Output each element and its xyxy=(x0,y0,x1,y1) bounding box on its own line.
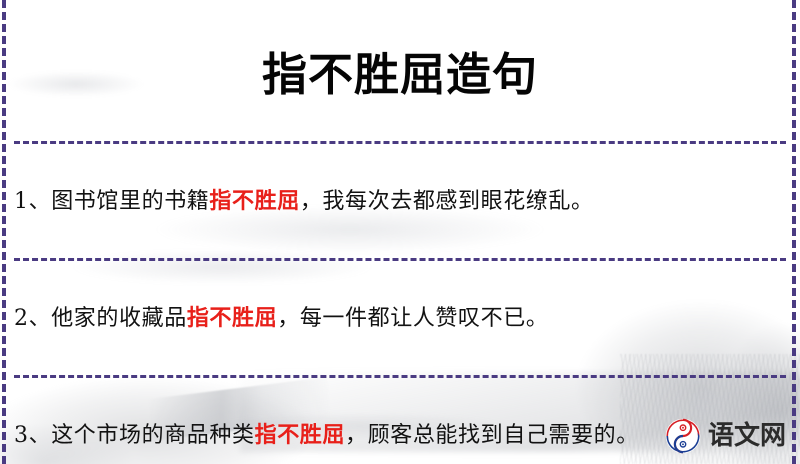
page-root: 指不胜屈造句 1、图书馆里的书籍指不胜屈，我每次去都感到眼花缭乱。 2、他家的收… xyxy=(0,0,800,464)
sentence-item: 2、他家的收藏品指不胜屈，每一件都让人赞叹不已。 xyxy=(0,283,800,353)
taiji-yinyang-icon xyxy=(665,418,701,454)
sentence-number: 2、 xyxy=(14,306,51,331)
idiom-highlight: 指不胜屈 xyxy=(209,188,299,214)
dashed-divider xyxy=(14,375,786,378)
sentence-item: 1、图书馆里的书籍指不胜屈，我每次去都感到眼花缭乱。 xyxy=(0,166,800,236)
sentence-number: 1、 xyxy=(14,189,51,214)
page-title: 指不胜屈造句 xyxy=(262,48,538,101)
sentence-text-before: 他家的收藏品 xyxy=(51,306,187,331)
article-content: 指不胜屈造句 1、图书馆里的书籍指不胜屈，我每次去都感到眼花缭乱。 2、他家的收… xyxy=(0,0,800,464)
sentence-number: 3、 xyxy=(14,423,51,448)
idiom-highlight: 指不胜屈 xyxy=(255,422,345,448)
dashed-divider xyxy=(14,258,786,261)
site-logo-text: 语文网 xyxy=(708,423,786,449)
sentence-text-after: ，我每次去都感到眼花缭乱。 xyxy=(300,189,594,214)
site-logo[interactable]: 语文网 xyxy=(665,418,786,454)
dashed-border-right xyxy=(792,0,796,464)
sentence-text-after: ，顾客总能找到自己需要的。 xyxy=(345,423,639,448)
title-block: 指不胜屈造句 xyxy=(0,0,800,141)
idiom-highlight: 指不胜屈 xyxy=(187,305,277,331)
sentence-text-after: ，每一件都让人赞叹不已。 xyxy=(277,306,548,331)
sentence-text-before: 这个市场的商品种类 xyxy=(51,423,254,448)
dashed-divider xyxy=(14,141,786,144)
dashed-border-left xyxy=(2,0,6,464)
sentence-text-before: 图书馆里的书籍 xyxy=(51,189,209,214)
